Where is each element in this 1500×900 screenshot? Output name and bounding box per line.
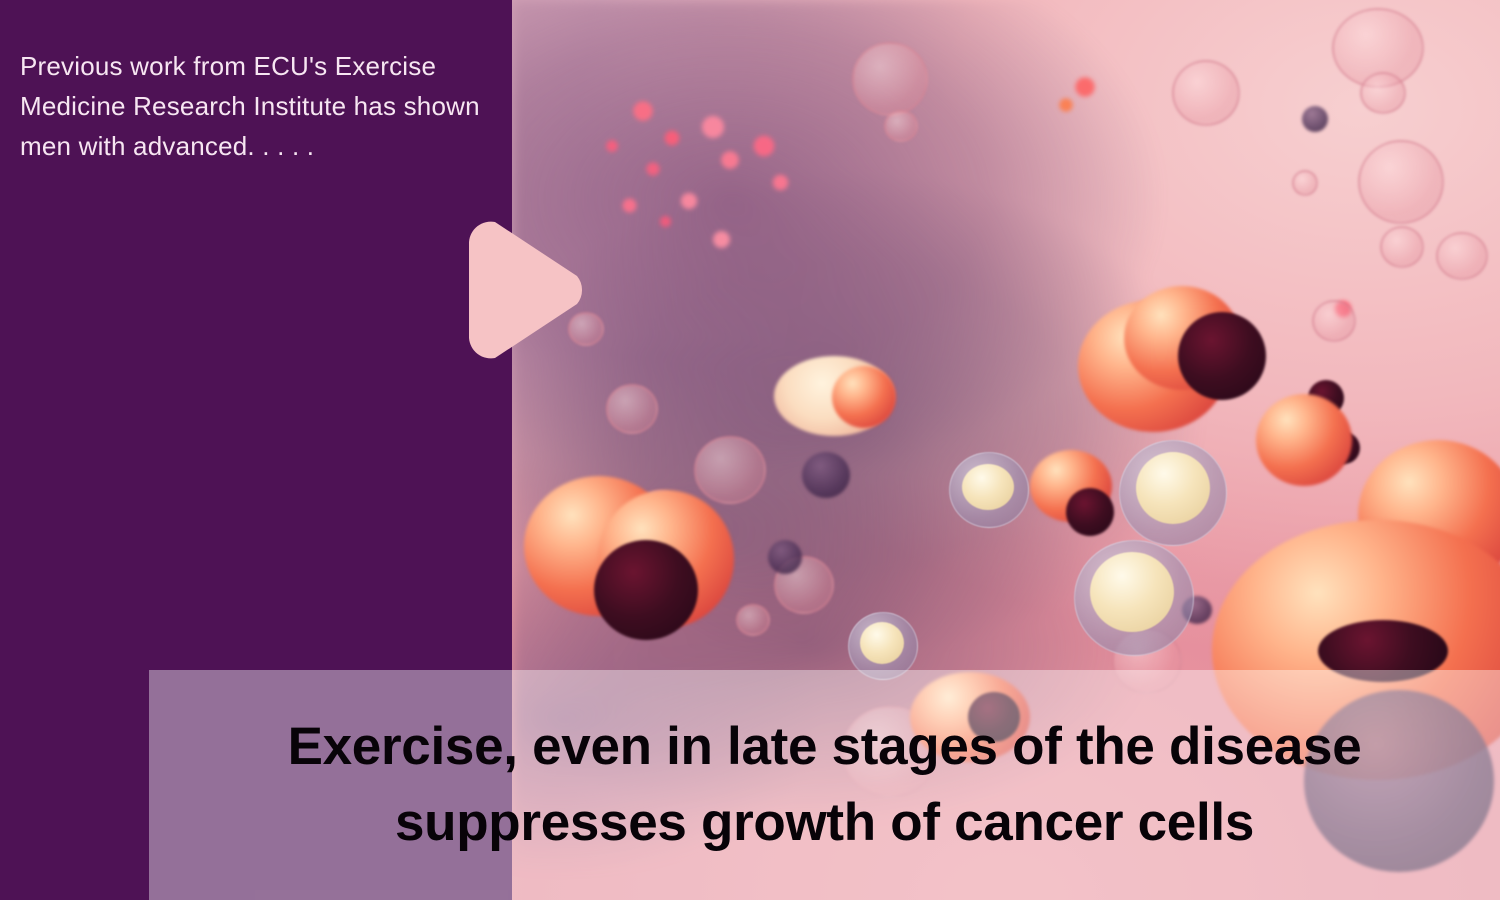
cancer-cell-mass bbox=[832, 366, 896, 428]
cell-bubble bbox=[694, 436, 766, 504]
cell-nucleus bbox=[1178, 312, 1266, 400]
membrane-cell-core bbox=[1136, 452, 1210, 524]
play-triangle-icon[interactable] bbox=[465, 214, 591, 366]
cell-nucleus bbox=[1066, 488, 1114, 536]
teaser-text: Previous work from ECU's Exercise Medici… bbox=[20, 46, 490, 166]
cancer-cell-mass bbox=[1256, 394, 1352, 486]
cell-bubble bbox=[1436, 232, 1488, 280]
membrane-cell-core bbox=[1090, 552, 1174, 632]
cell-bubble bbox=[1292, 170, 1318, 196]
membrane-cell-core bbox=[962, 464, 1014, 510]
play-button[interactable] bbox=[465, 214, 591, 366]
cell-bubble bbox=[852, 42, 928, 116]
cell-bubble bbox=[1312, 300, 1356, 342]
cell-bubble bbox=[736, 604, 770, 636]
caption-line-2: suppresses growth of cancer cells bbox=[395, 785, 1254, 861]
cell-bubble bbox=[1360, 72, 1406, 114]
cell-nucleus bbox=[594, 540, 698, 640]
cell-bubble bbox=[884, 110, 918, 142]
cell-bubble bbox=[606, 384, 658, 434]
dark-cell-orb bbox=[1302, 106, 1328, 132]
cell-bubble bbox=[1358, 140, 1444, 224]
caption-line-1: Exercise, even in late stages of the dis… bbox=[288, 709, 1362, 785]
video-card: Previous work from ECU's Exercise Medici… bbox=[0, 0, 1500, 900]
cell-bubble bbox=[1380, 226, 1424, 268]
cell-bubble bbox=[1172, 60, 1240, 126]
caption-band: Exercise, even in late stages of the dis… bbox=[149, 670, 1500, 900]
dark-cell-orb bbox=[802, 452, 850, 498]
membrane-cell-core bbox=[860, 622, 904, 664]
dark-cell-orb bbox=[768, 540, 802, 574]
